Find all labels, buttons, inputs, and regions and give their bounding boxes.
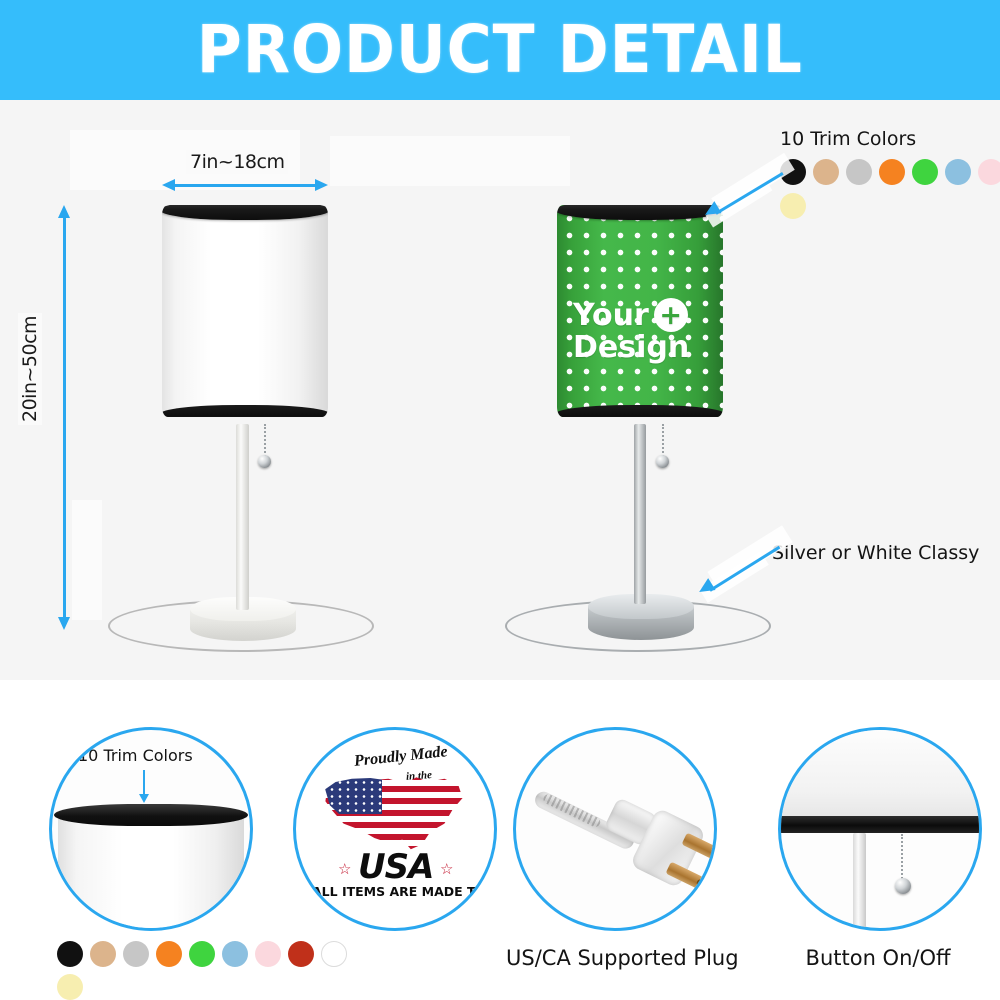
arrow-head-down-icon (58, 617, 70, 630)
usa-badge-line-top: Proudly Made (353, 743, 448, 771)
button-panel (778, 727, 982, 931)
shade-crop-trim (54, 804, 248, 826)
bg-patch (330, 136, 570, 186)
swatch-gray[interactable] (846, 159, 872, 185)
pull-chain (901, 834, 905, 882)
swatch-tan[interactable] (813, 159, 839, 185)
swatch-pink[interactable] (255, 941, 281, 967)
shade-bottom-trim (557, 405, 723, 417)
swatch-green[interactable] (189, 941, 215, 967)
prong-hole (696, 878, 705, 887)
lamp-shade: Your + Design (557, 205, 723, 417)
star-left-icon: ☆ (338, 860, 351, 878)
trim-swatch-row-2 (780, 193, 1000, 219)
bg-patch (72, 500, 102, 620)
swatch-green[interactable] (912, 159, 938, 185)
usa-badge-word: USA (358, 850, 433, 884)
design-placeholder: Your + Design (557, 298, 723, 364)
bottom-swatch-row-1 (57, 941, 347, 967)
swatch-black[interactable] (57, 941, 83, 967)
swatch-orange[interactable] (156, 941, 182, 967)
swatch-gray[interactable] (123, 941, 149, 967)
pull-chain-ball[interactable] (895, 878, 911, 894)
pull-chain-ball[interactable] (258, 455, 271, 468)
trim-colors-callout: 10 Trim Colors (780, 128, 1000, 219)
height-dimension-arrow (57, 205, 71, 630)
shade-crop-trim (778, 816, 982, 833)
lamp-pole (236, 424, 249, 610)
plug-panel-caption: US/CA Supported Plug (506, 946, 718, 970)
star-right-icon: ☆ (440, 860, 453, 878)
swatch-light-blue[interactable] (945, 159, 971, 185)
swatch-yellow[interactable] (57, 974, 83, 1000)
panel-trim-title: 10 Trim Colors (78, 746, 193, 765)
shade-surface (162, 205, 328, 417)
swatch-pink[interactable] (978, 159, 1000, 185)
base-finish-arrow (696, 545, 792, 601)
height-dimension-label: 20in~50cm (18, 313, 42, 425)
usa-badge-subtitle: ALL ITEMS ARE MADE TO ORDER! (312, 884, 480, 899)
button-illustration (781, 730, 979, 928)
lamp-shade (162, 205, 328, 417)
swatch-tan[interactable] (90, 941, 116, 967)
design-line-2: Design (573, 332, 723, 364)
bottom-trim-swatches (57, 941, 347, 1000)
pull-chain-ball[interactable] (656, 455, 669, 468)
design-line-1: Your (573, 300, 649, 332)
base-finish-label: Silver or White Classy (772, 542, 979, 564)
bottom-swatch-row-2 (57, 974, 347, 1000)
shade-crop (58, 812, 244, 931)
trim-swatch-row (780, 159, 1000, 185)
panel-arrow-head-icon (139, 794, 149, 803)
lamp-pole (634, 424, 646, 604)
swatch-orange[interactable] (879, 159, 905, 185)
arrow-shaft (63, 215, 66, 620)
header-banner: PRODUCT DETAIL (0, 0, 1000, 100)
add-design-icon[interactable]: + (654, 298, 688, 332)
swatch-dark-red[interactable] (288, 941, 314, 967)
shade-crop (778, 727, 982, 820)
design-row-1: Your + (573, 298, 723, 332)
lamp-pole-crop (853, 833, 866, 931)
width-dimension-label: 7in~18cm (186, 150, 288, 174)
trim-colors-title: 10 Trim Colors (780, 128, 1000, 150)
shade-bottom-trim (162, 405, 328, 417)
arrow-head-right-icon (315, 179, 328, 191)
usa-badge: Proudly Made in the ☆ USA ☆ ALL ITEMS AR… (318, 750, 470, 900)
width-dimension-arrow (162, 178, 328, 192)
trim-colors-panel: 10 Trim Colors (49, 727, 253, 931)
power-plug-illustration (516, 730, 714, 928)
product-detail-infographic: PRODUCT DETAIL 7in~18cm 20in~50cm (0, 0, 1000, 1000)
made-in-usa-panel: Proudly Made in the ☆ USA ☆ ALL ITEMS AR… (293, 727, 497, 931)
swatch-white[interactable] (321, 941, 347, 967)
arrow-shaft (172, 184, 318, 187)
plug-panel (513, 727, 717, 931)
swatch-light-blue[interactable] (222, 941, 248, 967)
page-title: PRODUCT DETAIL (197, 17, 803, 83)
button-panel-caption: Button On/Off (772, 946, 984, 970)
panel-arrow-shaft (143, 770, 145, 796)
trim-callout-arrow (704, 170, 796, 224)
